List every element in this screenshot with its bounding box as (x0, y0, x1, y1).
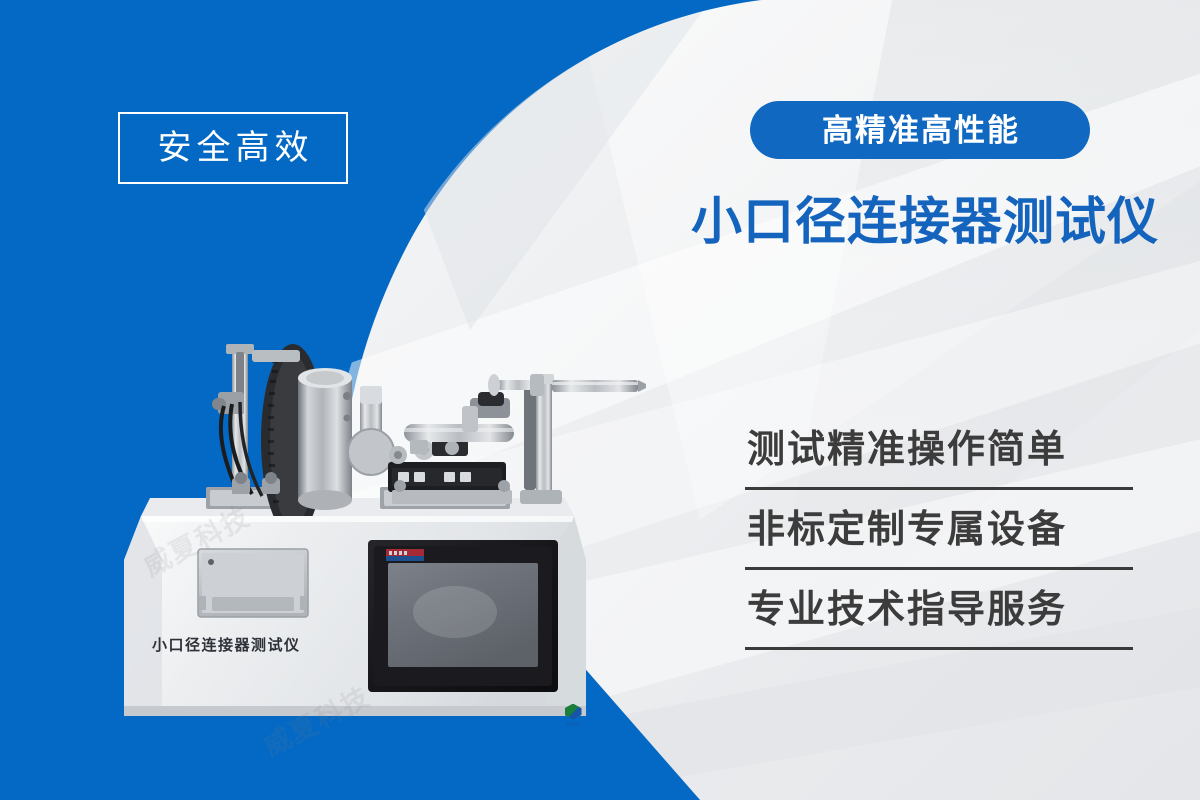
product-headline: 小口径连接器测试仪 (670, 193, 1180, 252)
feature-item: 非标定制专属设备 (745, 495, 1140, 575)
badge-high-precision: 高精准高性能 (750, 101, 1090, 159)
feature-label: 非标定制专属设备 (745, 495, 1140, 565)
pill-badge-label: 高精准高性能 (820, 115, 1020, 146)
feature-label: 测试精准操作简单 (745, 415, 1140, 485)
badge-safe-label: 安全高效 (153, 131, 314, 165)
feature-divider (745, 647, 1133, 650)
machine-front-label: 小口径连接器测试仪 (152, 634, 301, 655)
feature-divider (745, 487, 1133, 490)
right-content-panel: 高精准高性能 小口径连接器测试仪 测试精准操作简单 非标定制专属设备 专业技术指… (640, 0, 1200, 800)
feature-divider (745, 567, 1133, 570)
promo-banner: 小口径连接器测试仪 威夏科技 威夏科技 威夏科技 安全高效 高精准高性能 小口径… (0, 0, 1200, 800)
company-logo-badge: 威夏科技 (556, 700, 590, 730)
feature-item: 测试精准操作简单 (745, 415, 1140, 495)
product-photo: 小口径连接器测试仪 威夏科技 威夏科技 威夏科技 (0, 0, 700, 800)
feature-list: 测试精准操作简单 非标定制专属设备 专业技术指导服务 (745, 415, 1140, 655)
feature-label: 专业技术指导服务 (745, 575, 1140, 645)
company-logo-mark (565, 704, 582, 720)
badge-safe-efficient: 安全高效 (118, 112, 348, 184)
feature-item: 专业技术指导服务 (745, 575, 1140, 655)
company-logo-text: 威夏科技 (566, 721, 580, 726)
